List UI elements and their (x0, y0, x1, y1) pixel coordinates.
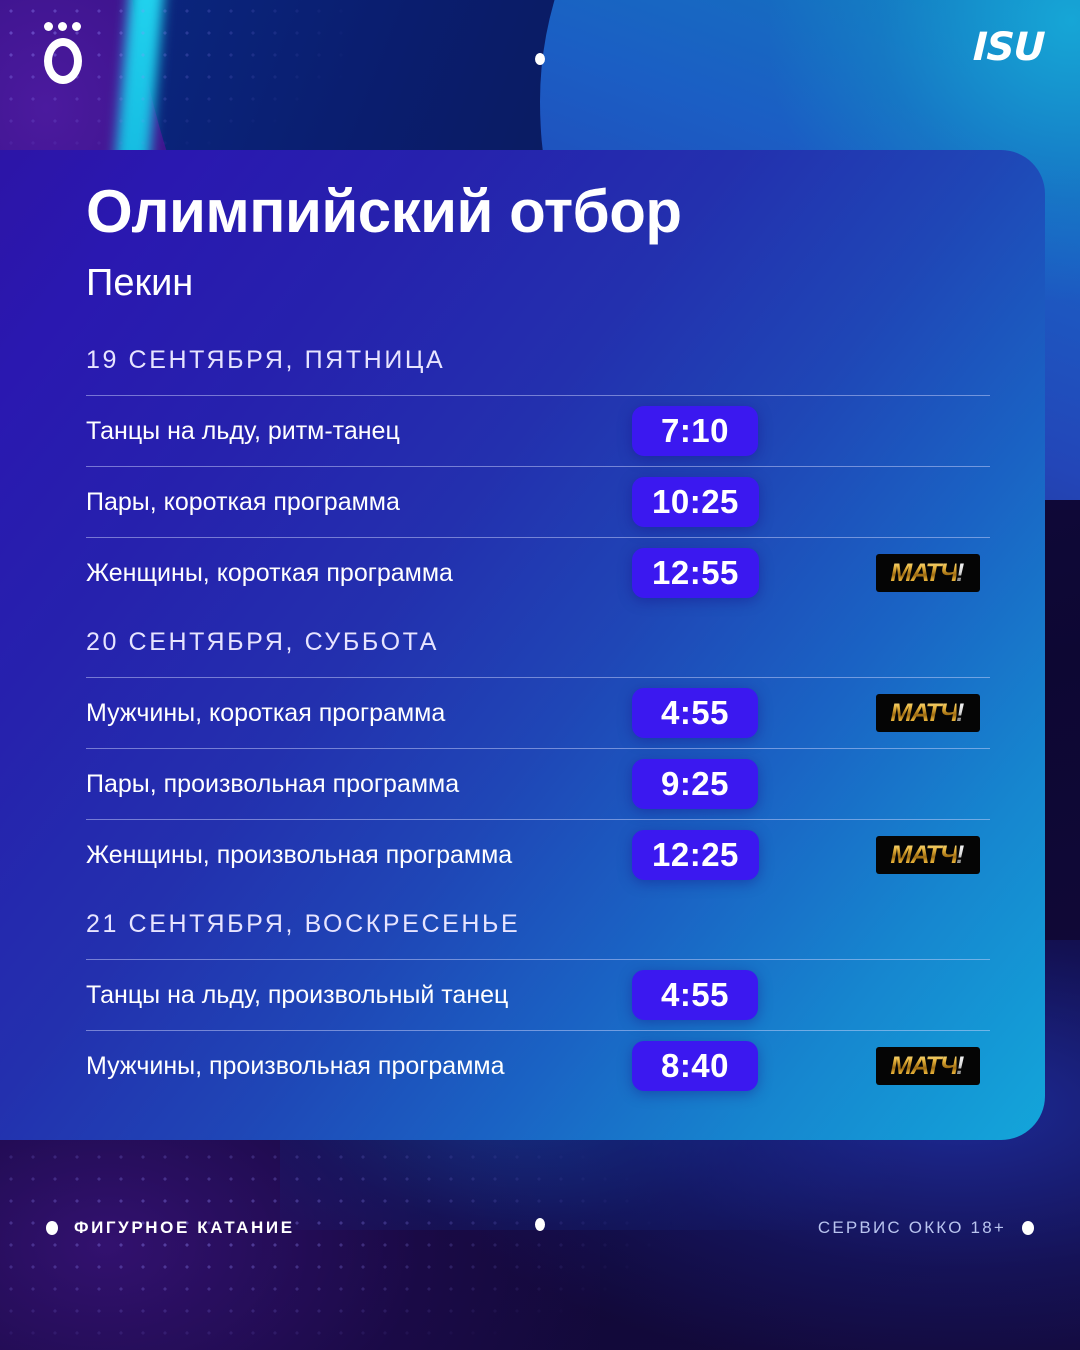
event-time-badge[interactable]: 12:25 (632, 830, 759, 880)
schedule-card: Олимпийский отбор Пекин 19 СЕНТЯБРЯ, ПЯТ… (0, 150, 1045, 1140)
schedule-row[interactable]: Женщины, короткая программа12:55МАТЧ! (86, 537, 990, 608)
match-tv-logo-text: МАТЧ (890, 841, 956, 870)
footer-bullet-icon (46, 1221, 58, 1235)
event-time-badge[interactable]: 9:25 (632, 759, 758, 809)
event-time-badge[interactable]: 4:55 (632, 688, 758, 738)
schedule-day-header: 19 СЕНТЯБРЯ, ПЯТНИЦА (86, 346, 990, 395)
match-tv-logo[interactable]: МАТЧ! (876, 554, 980, 592)
schedule-row[interactable]: Мужчины, короткая программа4:55МАТЧ! (86, 677, 990, 748)
schedule-day-header: 20 СЕНТЯБРЯ, СУББОТА (86, 608, 990, 677)
event-time-slot: 9:25 (632, 759, 842, 809)
okko-ring-icon (44, 38, 82, 84)
event-time-slot: 8:40 (632, 1041, 842, 1091)
okko-dot-1 (44, 22, 53, 31)
header-center-dot-icon (535, 53, 545, 65)
schedule-row[interactable]: Танцы на льду, ритм-танец7:10 (86, 395, 990, 466)
match-tv-logo-text: МАТЧ (890, 559, 956, 588)
match-tv-logo-exclamation-icon: ! (956, 1052, 964, 1081)
event-time-badge[interactable]: 7:10 (632, 406, 758, 456)
footer-right: СЕРВИС ОККО 18+ (818, 1218, 1034, 1238)
event-name: Танцы на льду, произвольный танец (86, 981, 632, 1010)
schedule-row[interactable]: Женщины, произвольная программа12:25МАТЧ… (86, 819, 990, 890)
event-channel-slot: МАТЧ! (842, 1047, 990, 1085)
okko-dot-3 (72, 22, 81, 31)
event-time-slot: 10:25 (632, 477, 842, 527)
schedule-day-header: 21 СЕНТЯБРЯ, ВОСКРЕСЕНЬЕ (86, 890, 990, 959)
event-time-badge[interactable]: 8:40 (632, 1041, 758, 1091)
schedule-list: 19 СЕНТЯБРЯ, ПЯТНИЦАТанцы на льду, ритм-… (86, 346, 990, 1101)
match-tv-logo[interactable]: МАТЧ! (876, 694, 980, 732)
match-tv-logo[interactable]: МАТЧ! (876, 836, 980, 874)
okko-logo-icon[interactable] (36, 22, 100, 84)
event-time-slot: 4:55 (632, 688, 842, 738)
event-name: Мужчины, произвольная программа (86, 1052, 632, 1081)
header: ISU (0, 0, 1080, 150)
schedule-card-inner: Олимпийский отбор Пекин 19 СЕНТЯБРЯ, ПЯТ… (0, 150, 1045, 1140)
footer-sport-label: ФИГУРНОЕ КАТАНИЕ (74, 1218, 295, 1238)
schedule-row[interactable]: Пары, короткая программа10:25 (86, 466, 990, 537)
schedule-row[interactable]: Танцы на льду, произвольный танец4:55 (86, 959, 990, 1030)
event-time-slot: 7:10 (632, 406, 842, 456)
event-name: Танцы на льду, ритм-танец (86, 417, 632, 446)
event-time-badge[interactable]: 12:55 (632, 548, 759, 598)
footer-left: ФИГУРНОЕ КАТАНИЕ (46, 1218, 295, 1238)
isu-logo[interactable]: ISU (972, 25, 1045, 70)
okko-dots-icon (44, 22, 81, 31)
footer-bullet-right-icon (1022, 1221, 1034, 1235)
match-tv-logo-text: МАТЧ (890, 699, 956, 728)
match-tv-logo[interactable]: МАТЧ! (876, 1047, 980, 1085)
event-channel-slot: МАТЧ! (842, 836, 990, 874)
footer-center-dot-icon (535, 1218, 545, 1231)
event-time-slot: 4:55 (632, 970, 842, 1020)
event-name: Пары, короткая программа (86, 488, 632, 517)
page-title: Олимпийский отбор (86, 177, 682, 246)
event-channel-slot: МАТЧ! (842, 694, 990, 732)
match-tv-logo-text: МАТЧ (890, 1052, 956, 1081)
event-time-badge[interactable]: 4:55 (632, 970, 758, 1020)
event-time-badge[interactable]: 10:25 (632, 477, 759, 527)
event-name: Пары, произвольная программа (86, 770, 632, 799)
footer-service-label: СЕРВИС ОККО 18+ (818, 1218, 1006, 1238)
event-name: Женщины, короткая программа (86, 559, 632, 588)
event-name: Женщины, произвольная программа (86, 841, 632, 870)
schedule-row[interactable]: Пары, произвольная программа9:25 (86, 748, 990, 819)
match-tv-logo-exclamation-icon: ! (956, 841, 964, 870)
event-time-slot: 12:25 (632, 830, 842, 880)
schedule-row[interactable]: Мужчины, произвольная программа8:40МАТЧ! (86, 1030, 990, 1101)
footer: ФИГУРНОЕ КАТАНИЕ СЕРВИС ОККО 18+ (0, 1140, 1080, 1350)
match-tv-logo-exclamation-icon: ! (956, 699, 964, 728)
event-name: Мужчины, короткая программа (86, 699, 632, 728)
match-tv-logo-exclamation-icon: ! (956, 559, 964, 588)
event-channel-slot: МАТЧ! (842, 554, 990, 592)
page-subtitle: Пекин (86, 262, 193, 305)
okko-dot-2 (58, 22, 67, 31)
footer-center (535, 1218, 545, 1231)
event-time-slot: 12:55 (632, 548, 842, 598)
